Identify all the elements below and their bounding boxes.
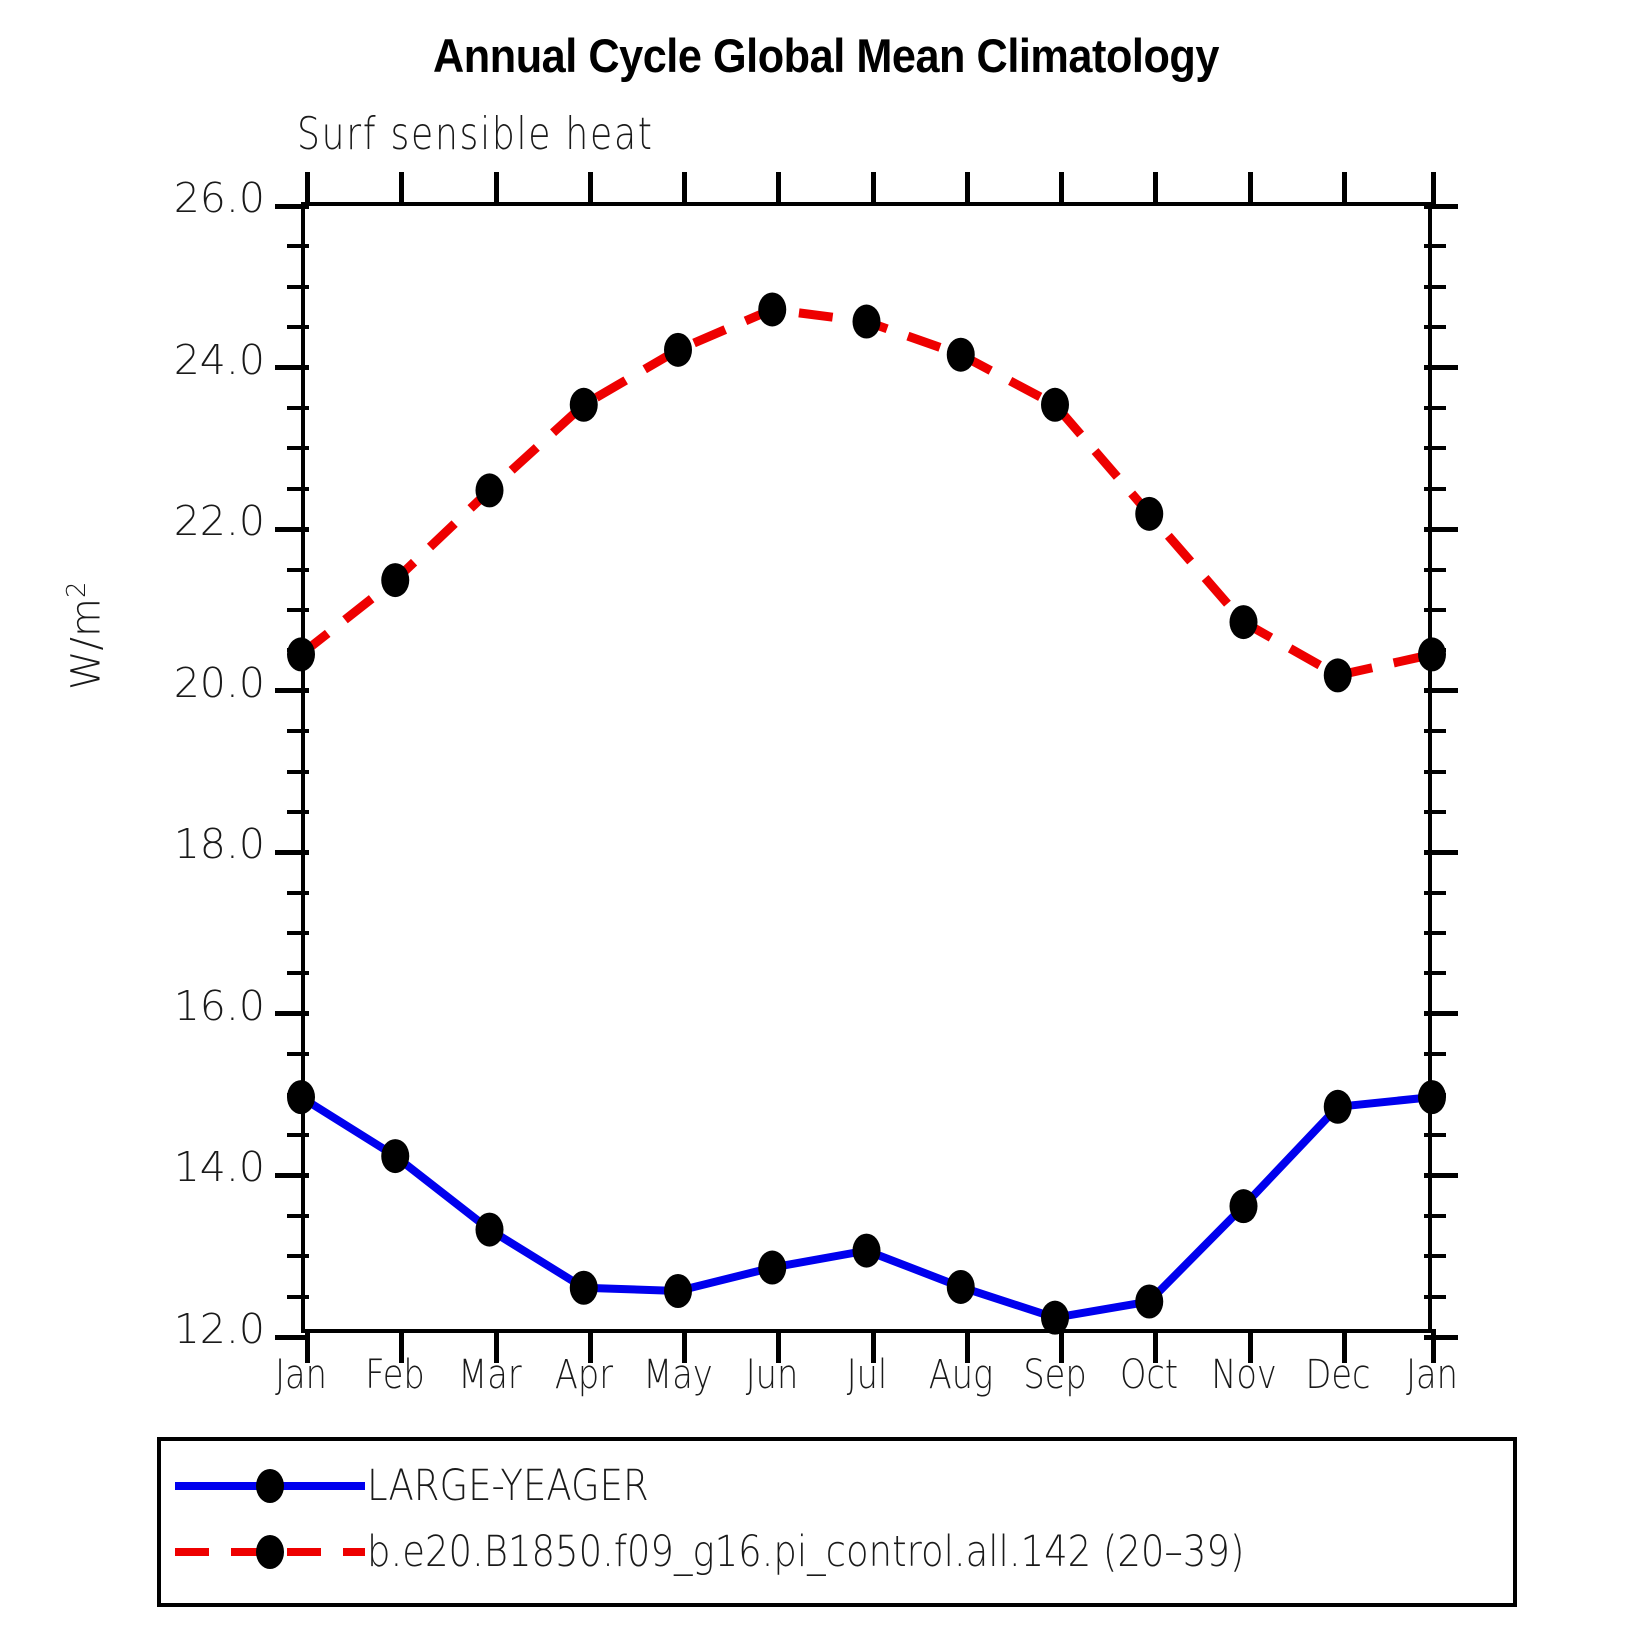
x-axis-major-tick	[1248, 172, 1253, 206]
x-axis-tick-label: Nov	[1211, 1352, 1277, 1398]
legend-marker-icon	[256, 1469, 284, 1503]
x-axis-tick-label: Jun	[746, 1352, 799, 1398]
x-axis-major-tick	[399, 172, 404, 206]
series-2	[287, 292, 1446, 692]
x-axis-tick-label: Feb	[366, 1352, 425, 1398]
data-point-marker	[1418, 1080, 1446, 1114]
data-point-marker	[1324, 1090, 1352, 1124]
x-axis-tick-label: Dec	[1305, 1352, 1370, 1398]
x-axis-tick-label: Apr	[555, 1352, 613, 1398]
y-axis-tick-label: 18.0	[120, 820, 265, 868]
y-axis-tick-label: 16.0	[120, 982, 265, 1030]
data-point-marker	[1324, 658, 1352, 692]
x-axis-tick-label: Jan	[275, 1352, 327, 1398]
data-point-marker	[853, 305, 881, 339]
y-axis-title: W/m2	[62, 581, 109, 690]
y-axis-tick-label: 14.0	[120, 1143, 265, 1191]
y-axis-tick-label: 20.0	[120, 659, 265, 707]
data-point-marker	[381, 563, 409, 597]
data-point-marker	[947, 338, 975, 372]
legend: LARGE-YEAGER b.e20.B1850.f09_g16.pi_cont…	[157, 1437, 1517, 1607]
data-point-marker	[476, 473, 504, 507]
legend-label: b.e20.B1850.f09_g16.pi_control.all.142 (…	[367, 1527, 1244, 1577]
data-point-marker	[570, 1271, 598, 1305]
data-point-marker	[1135, 497, 1163, 531]
series-line	[301, 1097, 1432, 1318]
x-axis-major-tick	[1153, 172, 1158, 206]
series-line	[301, 309, 1432, 675]
data-point-marker	[1041, 1301, 1069, 1335]
y-axis-title-exponent: 2	[62, 581, 92, 598]
data-point-marker	[1230, 605, 1258, 639]
series-plot	[301, 202, 1432, 1333]
x-axis-major-tick	[1342, 172, 1347, 206]
x-axis-major-tick	[965, 172, 970, 206]
data-point-marker	[664, 1274, 692, 1308]
x-axis-tick-label: Oct	[1120, 1352, 1178, 1398]
data-point-marker	[1418, 637, 1446, 671]
chart-root: Annual Cycle Global Mean Climatology Sur…	[0, 0, 1652, 1652]
x-axis-tick-label: Jan	[1406, 1352, 1458, 1398]
x-axis-major-tick	[494, 172, 499, 206]
y-axis-tick-label: 22.0	[120, 497, 265, 545]
series-1	[287, 1080, 1446, 1335]
x-axis-major-tick	[1059, 172, 1064, 206]
x-axis-tick-label: May	[643, 1352, 712, 1398]
legend-label: LARGE-YEAGER	[367, 1461, 649, 1511]
x-axis-major-tick	[305, 172, 310, 206]
y-axis-title-text: W/m	[63, 598, 109, 690]
data-point-marker	[287, 637, 315, 671]
y-axis-tick-label: 12.0	[120, 1305, 265, 1353]
data-point-marker	[664, 333, 692, 367]
data-point-marker	[947, 1270, 975, 1304]
y-axis-tick-label: 24.0	[120, 336, 265, 384]
x-axis-major-tick	[682, 172, 687, 206]
x-axis-tick-label: Aug	[929, 1352, 993, 1398]
x-axis-major-tick	[588, 172, 593, 206]
data-point-marker	[758, 1251, 786, 1285]
chart-subtitle: Surf sensible heat	[297, 108, 654, 159]
x-axis-tick-label: Mar	[458, 1352, 521, 1398]
legend-marker-icon	[256, 1535, 284, 1569]
data-point-marker	[570, 388, 598, 422]
data-point-marker	[853, 1234, 881, 1268]
data-point-marker	[476, 1213, 504, 1247]
page-title: Annual Cycle Global Mean Climatology	[66, 28, 1586, 83]
x-axis-tick-label: Jul	[846, 1352, 887, 1398]
data-point-marker	[1230, 1189, 1258, 1223]
legend-entry-pi-control[interactable]: b.e20.B1850.f09_g16.pi_control.all.142 (…	[175, 1521, 1387, 1583]
data-point-marker	[1041, 388, 1069, 422]
x-axis-major-tick	[871, 172, 876, 206]
x-axis-major-tick	[776, 172, 781, 206]
legend-entry-large-yeager[interactable]: LARGE-YEAGER	[175, 1455, 695, 1517]
x-axis-tick-label: Sep	[1023, 1352, 1086, 1398]
data-point-marker	[287, 1080, 315, 1114]
data-point-marker	[1135, 1284, 1163, 1318]
data-point-marker	[381, 1139, 409, 1173]
legend-swatch-dashed-red	[175, 1529, 365, 1575]
data-point-marker	[758, 292, 786, 326]
y-axis-major-tick	[275, 1335, 309, 1340]
x-axis-major-tick	[1431, 172, 1436, 206]
legend-swatch-solid-blue	[175, 1463, 365, 1509]
y-axis-major-tick	[1424, 1335, 1458, 1340]
y-axis-tick-label: 26.0	[120, 174, 265, 222]
